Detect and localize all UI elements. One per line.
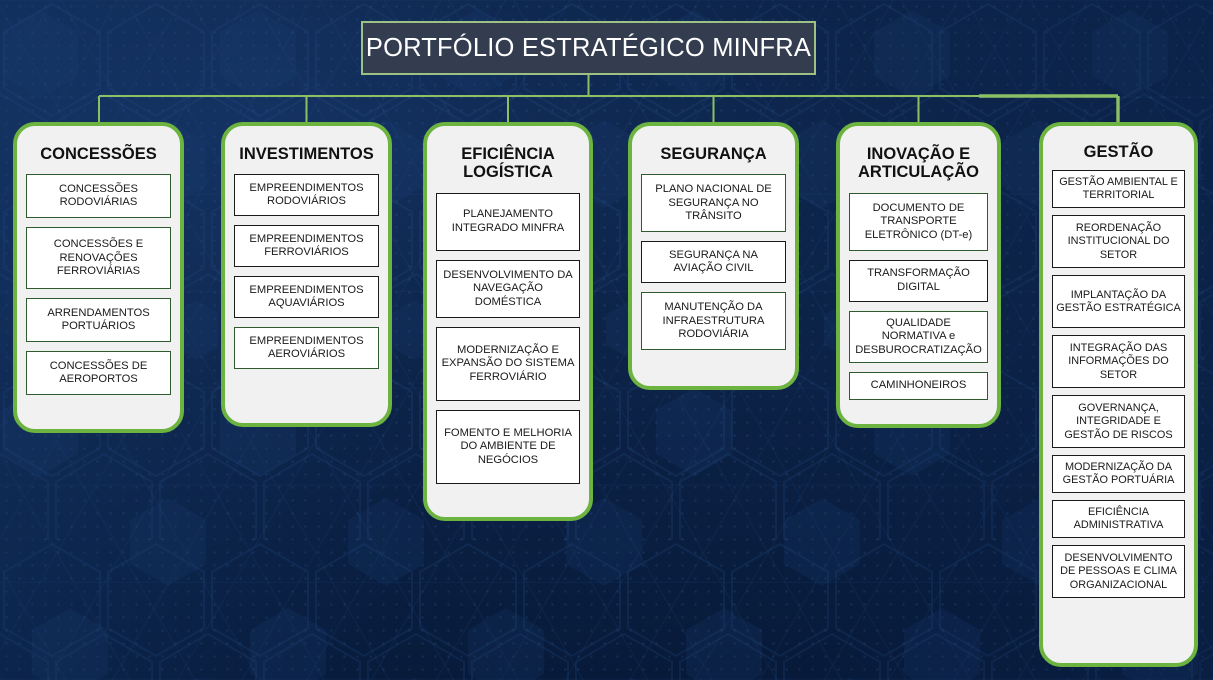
pillar-seguranca[interactable]: SEGURANÇA PLANO NACIONAL DE SEGURANÇA NO… (628, 122, 799, 390)
pillar-inovacao-articulacao[interactable]: INOVAÇÃO E ARTICULAÇÃO DOCUMENTO DE TRAN… (836, 122, 1001, 428)
program-box[interactable]: TRANSFORMAÇÃO DIGITAL (849, 260, 988, 302)
program-box[interactable]: EMPREENDIMENTOS AEROVIÁRIOS (234, 327, 379, 369)
program-box[interactable]: SEGURANÇA NA AVIAÇÃO CIVIL (641, 241, 786, 283)
pillar-items-inovacao-articulacao: DOCUMENTO DE TRANSPORTE ELETRÔNICO (DT-e… (849, 193, 988, 400)
pillar-items-gestao: GESTÃO AMBIENTAL E TERRITORIAL REORDENAÇ… (1052, 170, 1185, 598)
program-box[interactable]: CONCESSÕES E RENOVAÇÕES FERROVIÁRIAS (26, 227, 171, 289)
pillar-eficiencia-logistica[interactable]: EFICIÊNCIA LOGÍSTICA PLANEJAMENTO INTEGR… (423, 122, 593, 521)
pillar-title-gestao: GESTÃO (1084, 143, 1154, 161)
program-box[interactable]: CONCESSÕES RODOVIÁRIAS (26, 174, 171, 218)
pillar-investimentos[interactable]: INVESTIMENTOS EMPREENDIMENTOS RODOVIÁRIO… (221, 122, 392, 427)
program-box[interactable]: MODERNIZAÇÃO E EXPANSÃO DO SISTEMA FERRO… (436, 327, 580, 401)
program-box[interactable]: INTEGRAÇÃO DAS INFORMAÇÕES DO SETOR (1052, 335, 1185, 388)
program-box[interactable]: GOVERNANÇA, INTEGRIDADE E GESTÃO DE RISC… (1052, 395, 1185, 448)
pillar-items-concessoes: CONCESSÕES RODOVIÁRIAS CONCESSÕES E RENO… (26, 174, 171, 395)
program-box[interactable]: EMPREENDIMENTOS RODOVIÁRIOS (234, 174, 379, 216)
pillar-title-seguranca: SEGURANÇA (660, 145, 766, 163)
program-box[interactable]: CAMINHONEIROS (849, 372, 988, 400)
pillar-title-eficiencia-logistica: EFICIÊNCIA LOGÍSTICA (436, 145, 580, 182)
portfolio-title-box: PORTFÓLIO ESTRATÉGICO MINFRA (361, 21, 816, 75)
program-box[interactable]: DESENVOLVIMENTO DA NAVEGAÇÃO DOMÉSTICA (436, 260, 580, 318)
pillar-concessoes[interactable]: CONCESSÕES CONCESSÕES RODOVIÁRIAS CONCES… (13, 122, 184, 433)
program-box[interactable]: DOCUMENTO DE TRANSPORTE ELETRÔNICO (DT-e… (849, 193, 988, 251)
program-box[interactable]: PLANEJAMENTO INTEGRADO MINFRA (436, 193, 580, 251)
program-box[interactable]: ARRENDAMENTOS PORTUÁRIOS (26, 298, 171, 342)
program-box[interactable]: DESENVOLVIMENTO DE PESSOAS E CLIMA ORGAN… (1052, 545, 1185, 598)
pillar-items-eficiencia-logistica: PLANEJAMENTO INTEGRADO MINFRA DESENVOLVI… (436, 193, 580, 484)
program-box[interactable]: EMPREENDIMENTOS FERROVIÁRIOS (234, 225, 379, 267)
program-box[interactable]: MODERNIZAÇÃO DA GESTÃO PORTUÁRIA (1052, 455, 1185, 493)
pillar-title-investimentos: INVESTIMENTOS (239, 145, 373, 163)
program-box[interactable]: QUALIDADE NORMATIVA e DESBUROCRATIZAÇÃO (849, 311, 988, 363)
program-box[interactable]: REORDENAÇÃO INSTITUCIONAL DO SETOR (1052, 215, 1185, 268)
pillar-title-inovacao-articulacao: INOVAÇÃO E ARTICULAÇÃO (849, 145, 988, 182)
pillar-items-investimentos: EMPREENDIMENTOS RODOVIÁRIOS EMPREENDIMEN… (234, 174, 379, 369)
pillar-title-concessoes: CONCESSÕES (40, 145, 156, 163)
pillar-items-seguranca: PLANO NACIONAL DE SEGURANÇA NO TRÂNSITO … (641, 174, 786, 350)
program-box[interactable]: FOMENTO E MELHORIA DO AMBIENTE DE NEGÓCI… (436, 410, 580, 484)
page-title: PORTFÓLIO ESTRATÉGICO MINFRA (366, 34, 811, 63)
pillar-gestao[interactable]: GESTÃO GESTÃO AMBIENTAL E TERRITORIAL RE… (1039, 122, 1198, 667)
program-box[interactable]: GESTÃO AMBIENTAL E TERRITORIAL (1052, 170, 1185, 208)
program-box[interactable]: MANUTENÇÃO DA INFRAESTRUTURA RODOVIÁRIA (641, 292, 786, 350)
program-box[interactable]: CONCESSÕES DE AEROPORTOS (26, 351, 171, 395)
program-box[interactable]: IMPLANTAÇÃO DA GESTÃO ESTRATÉGICA (1052, 275, 1185, 328)
program-box[interactable]: PLANO NACIONAL DE SEGURANÇA NO TRÂNSITO (641, 174, 786, 232)
program-box[interactable]: EMPREENDIMENTOS AQUAVIÁRIOS (234, 276, 379, 318)
program-box[interactable]: EFICIÊNCIA ADMINISTRATIVA (1052, 500, 1185, 538)
